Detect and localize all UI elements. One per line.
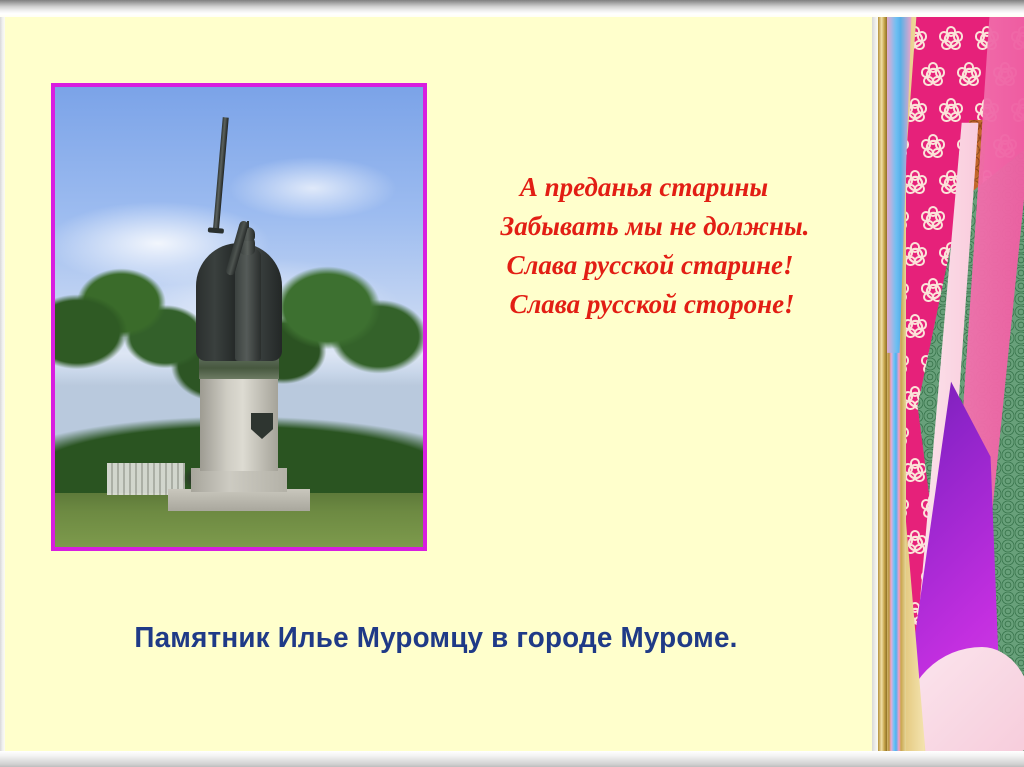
page-edge-bottom (0, 751, 1024, 767)
flower-icon (920, 62, 946, 88)
poem-line-3: Слава русской старине! (455, 246, 855, 285)
pedestal-base (168, 489, 310, 511)
page-edge-top (0, 0, 1024, 17)
photo-image (55, 87, 423, 547)
poem-block: А преданья старины Забывать мы не должны… (455, 168, 855, 324)
poem-line-2: Забывать мы не должны. (455, 207, 855, 246)
poem-line-4: Слава русской стороне! (455, 285, 855, 324)
decorative-border-strip (872, 0, 1024, 767)
monument-photo (51, 83, 427, 551)
slide-caption: Памятник Илье Муромцу в городе Муроме. (17, 622, 854, 655)
flower-icon (938, 26, 964, 52)
flower-icon (920, 206, 946, 232)
poem-line-1: А преданья старины (455, 168, 855, 207)
gold-vertical-bar (878, 0, 887, 767)
slide-canvas: А преданья старины Забывать мы не должны… (0, 0, 1024, 767)
statue-sword (213, 117, 229, 229)
statue-body (235, 249, 261, 361)
pedestal-step (191, 468, 287, 492)
flower-icon (956, 62, 982, 88)
flower-icon (938, 98, 964, 124)
page-edge-left (0, 0, 5, 767)
flower-icon (920, 134, 946, 160)
